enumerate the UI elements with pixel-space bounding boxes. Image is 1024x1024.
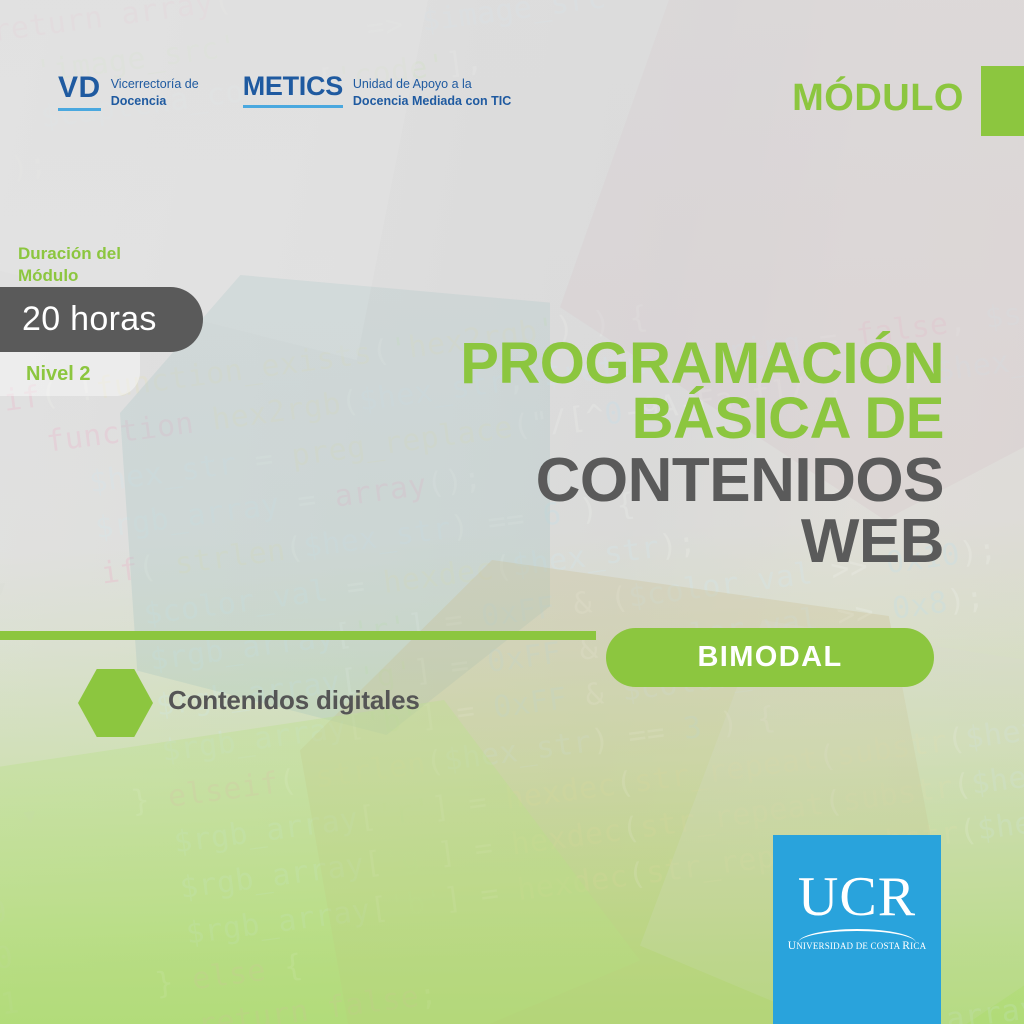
ucr-logo: UCR UNIVERSIDAD DE COSTA RICA [773, 835, 941, 1024]
green-divider [0, 631, 596, 640]
level-badge: Nivel 2 [0, 352, 140, 396]
ucr-name-r: R [902, 940, 910, 952]
modality-label: BIMODAL [697, 641, 842, 674]
ucr-name-u: U [788, 940, 797, 952]
ucr-name-ica: ICA [910, 941, 926, 951]
ucr-name-niversidad: NIVERSIDAD [796, 941, 855, 951]
category-label: Contenidos digitales [168, 685, 420, 716]
metics-logo-mark: METICS [243, 73, 343, 108]
vd-logo-line2: Docencia [111, 93, 199, 110]
metics-logo-line2: Docencia Mediada con TIC [353, 93, 511, 110]
vd-logo-mark: VD [58, 73, 101, 111]
duration-label: Duración del Módulo [18, 243, 121, 287]
course-title-line4: WEB [460, 513, 944, 572]
course-title-line1: PROGRAMACIÓN [460, 336, 944, 391]
duration-label-line1: Duración del [18, 243, 121, 265]
course-title-line2: BÁSICA DE [460, 391, 944, 446]
vd-logo-line1: Vicerrectoría de [111, 76, 199, 93]
ucr-name-space: C [868, 941, 877, 951]
duration-label-line2: Módulo [18, 265, 121, 287]
duration-hours-badge: 20 horas [0, 287, 203, 352]
ucr-acronym: UCR [798, 869, 916, 925]
institutional-logos: VD Vicerrectoría de Docencia METICS Unid… [58, 73, 511, 111]
course-title: PROGRAMACIÓN BÁSICA DE CONTENIDOS WEB [460, 336, 944, 572]
level-value: Nivel 2 [0, 363, 90, 386]
modulo-label: MÓDULO [792, 77, 964, 120]
metics-logo-line1: Unidad de Apoyo a la [353, 76, 511, 93]
ucr-name-osta: OSTA [877, 941, 903, 951]
modulo-accent-block [981, 66, 1024, 136]
logo-vd: VD Vicerrectoría de Docencia [58, 73, 199, 111]
metics-logo-text: Unidad de Apoyo a la Docencia Mediada co… [353, 73, 511, 111]
modality-badge: BIMODAL [606, 628, 934, 687]
course-title-line3: CONTENIDOS [460, 452, 944, 511]
ucr-full-name: UNIVERSIDAD DE COSTA RICA [788, 940, 927, 952]
course-poster: ail.php 79 ession['_CAPTCHA']['config'] … [0, 0, 1024, 1024]
ucr-name-de: DE [856, 941, 868, 951]
logo-metics: METICS Unidad de Apoyo a la Docencia Med… [243, 73, 512, 111]
duration-hours-value: 20 horas [0, 300, 157, 339]
vd-logo-text: Vicerrectoría de Docencia [111, 73, 199, 111]
